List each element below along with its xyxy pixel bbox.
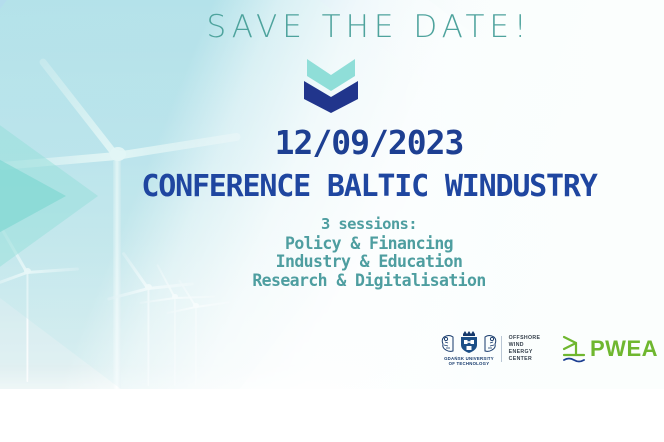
sessions-block: 3 sessions: Policy & Financing Industry … — [0, 215, 664, 290]
page-title: CONFERENCE BALTIC WINDUSTRY — [0, 169, 664, 204]
session-item-policy-financing: Policy & Financing — [74, 235, 664, 254]
pwea-wordmark: PWEA — [590, 336, 658, 362]
gdansk-university-logo: GDAŃSK UNIVERSITY OF TECHNOLOGY — [440, 331, 498, 366]
event-date: 12/09/2023 — [0, 123, 664, 162]
double-chevron-down-icon — [302, 59, 360, 113]
session-item-research-digitalisation: Research & Digitalisation — [74, 272, 664, 291]
logo-divider — [501, 336, 502, 362]
sessions-intro: 3 sessions: — [74, 215, 664, 234]
session-item-industry-education: Industry & Education — [74, 253, 664, 272]
logo-strip: GDAŃSK UNIVERSITY OF TECHNOLOGY OFFSHORE… — [440, 326, 658, 372]
university-crest-icon — [440, 331, 498, 354]
bottom-whitespace — [0, 389, 664, 442]
offshore-wind-energy-center-label: OFFSHORE WIND ENERGY CENTER — [509, 335, 541, 363]
save-the-date-headline: SAVE THE DATE! — [0, 9, 664, 45]
pwea-turbine-icon — [561, 334, 587, 364]
save-the-date-poster: SAVE THE DATE! 12/09/2023 CONFERENCE BAL… — [0, 0, 664, 442]
poster-banner: SAVE THE DATE! 12/09/2023 CONFERENCE BAL… — [0, 0, 664, 389]
pwea-logo: PWEA — [561, 334, 658, 364]
university-name: GDAŃSK UNIVERSITY OF TECHNOLOGY — [444, 356, 494, 367]
